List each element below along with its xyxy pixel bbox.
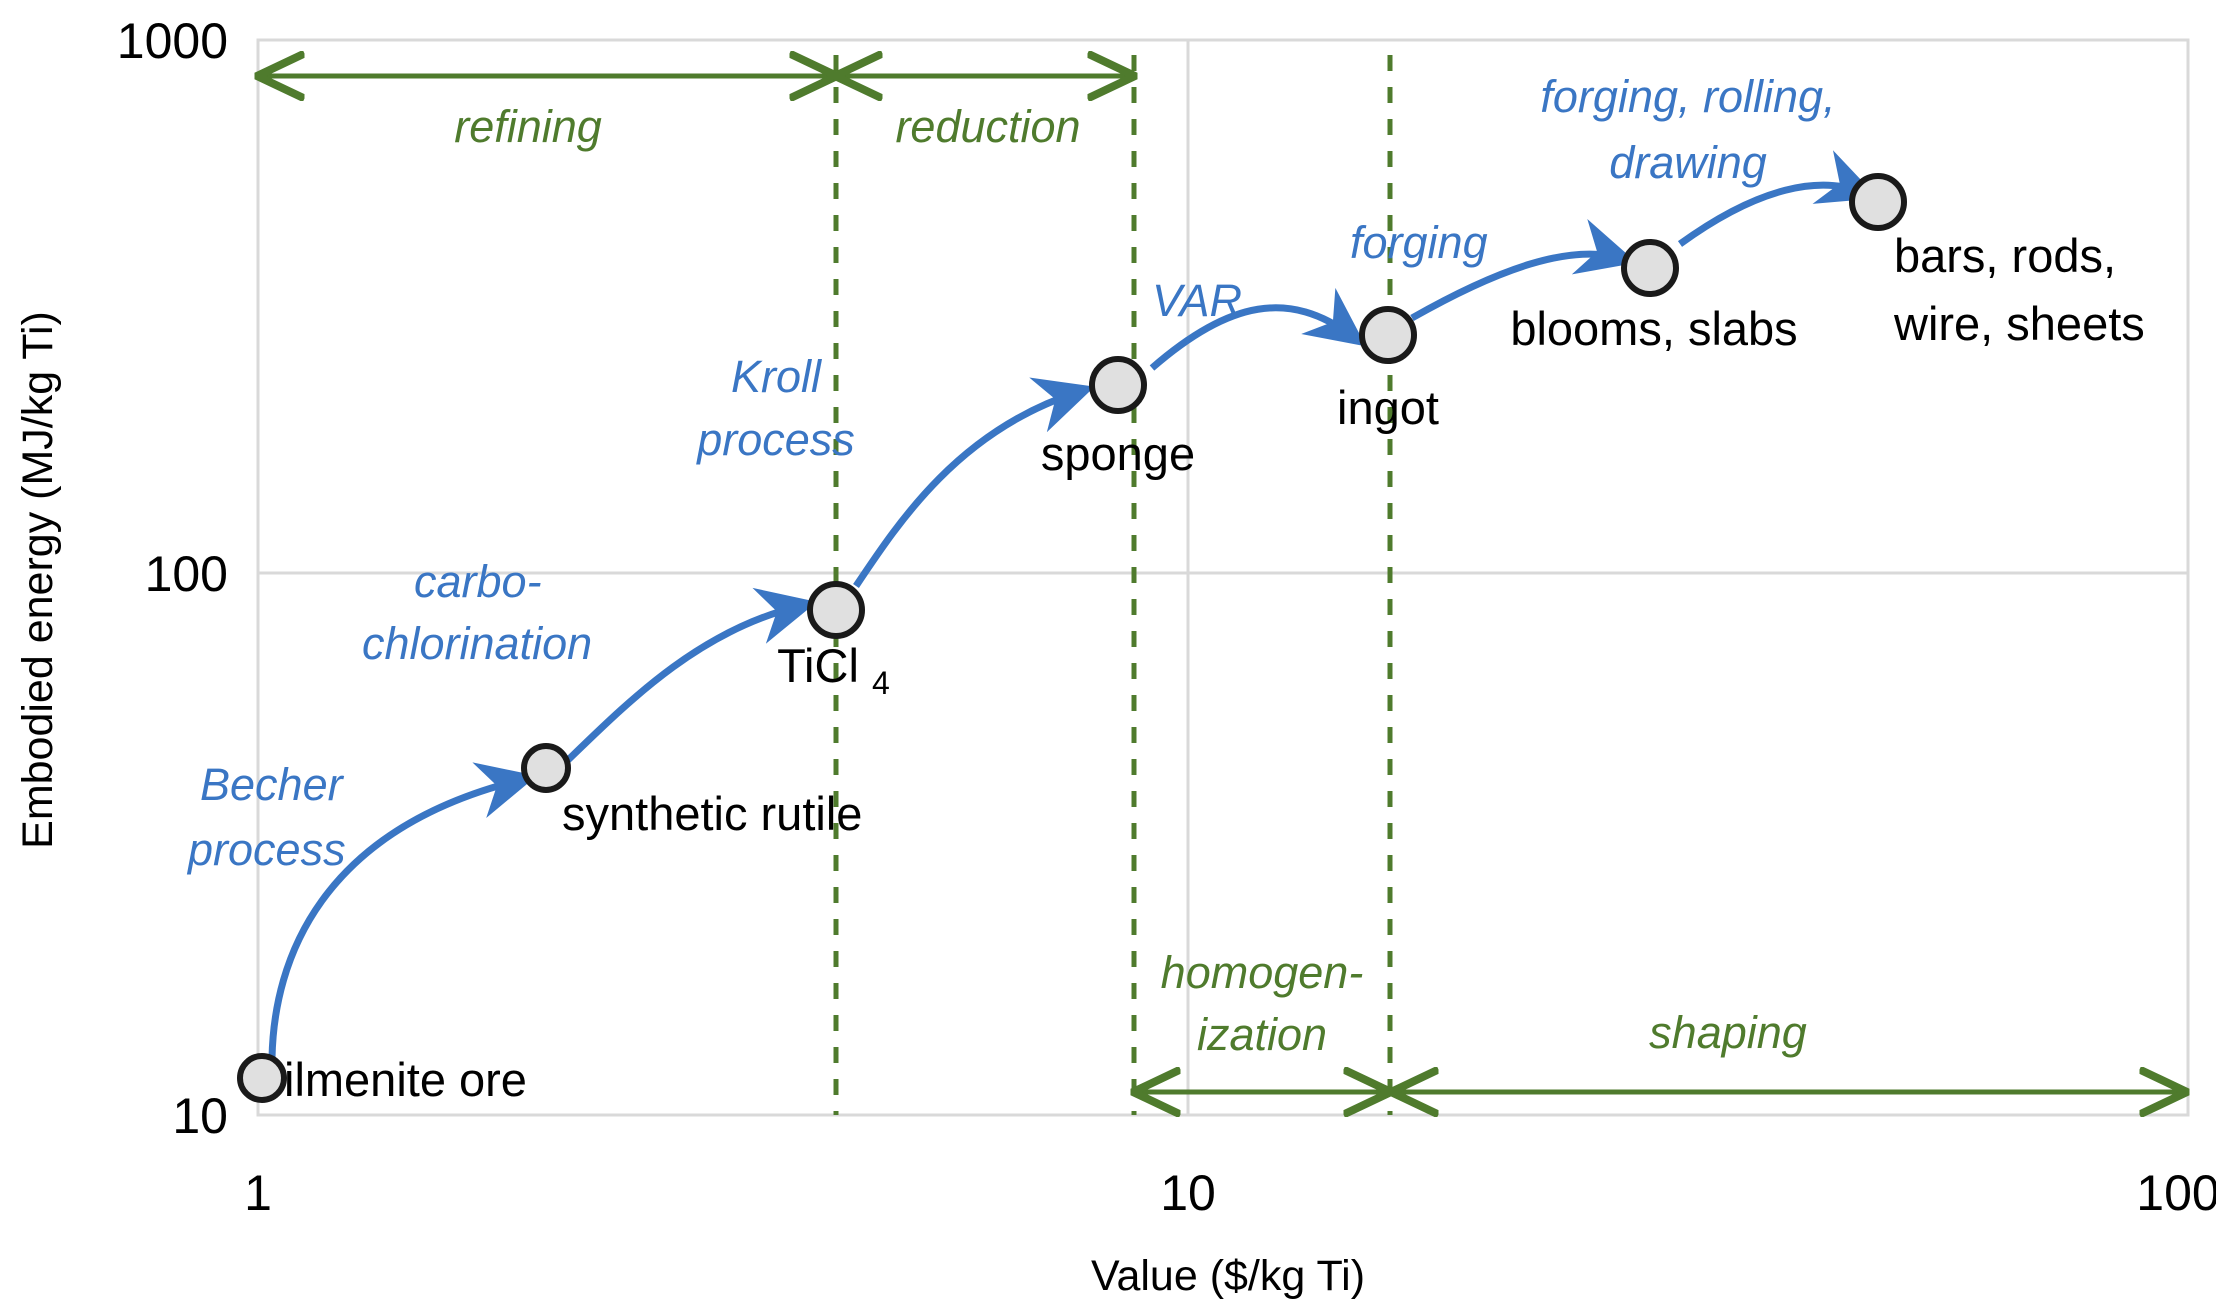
node-label-ticl4: TiCl 4: [777, 639, 890, 701]
node-label-ingot: ingot: [1337, 381, 1439, 434]
y-tick-100: 100: [145, 546, 228, 602]
data-point-synthetic-rutile[interactable]: [524, 746, 568, 790]
x-axis-title: Value ($/kg Ti): [1091, 1252, 1365, 1300]
stage-label-refining: refining: [454, 101, 602, 152]
process-label-kroll-line1: Kroll: [731, 351, 823, 402]
process-labels: Becher process carbo- chlorination Kroll…: [186, 71, 1836, 875]
x-tick-1: 1: [244, 1165, 272, 1221]
node-label-bars-line2: wire, sheets: [1893, 297, 2145, 350]
titanium-value-energy-chart: 1000 100 10 1 10 100 Embodied energy (MJ…: [0, 0, 2216, 1316]
node-label-ticl4-subscript: 4: [872, 665, 890, 701]
process-label-forging: forging: [1350, 217, 1488, 268]
process-label-carbo-line1: carbo-: [414, 556, 542, 607]
stage-label-homogenization-line1: homogen-: [1161, 947, 1364, 998]
node-label-synthetic-rutile: synthetic rutile: [562, 787, 862, 840]
y-tick-10: 10: [172, 1088, 228, 1144]
x-tick-10: 10: [1160, 1165, 1216, 1221]
data-point-blooms-slabs[interactable]: [1624, 242, 1676, 294]
process-label-frd-line2: drawing: [1609, 137, 1767, 188]
process-label-var: VAR: [1152, 275, 1242, 326]
flow-arrow-becher: [272, 780, 520, 1058]
y-axis-title: Embodied energy (MJ/kg Ti): [14, 311, 62, 849]
top-stage-spans: refining reduction: [262, 76, 1130, 152]
node-label-ilmenite-ore: ilmenite ore: [284, 1053, 527, 1106]
process-label-kroll-line2: process: [695, 414, 855, 465]
bottom-stage-spans: homogen- ization shaping: [1138, 947, 2182, 1092]
stage-label-reduction: reduction: [895, 101, 1080, 152]
flow-arrow-forging-rolling-drawing: [1680, 185, 1862, 244]
data-point-ingot[interactable]: [1362, 309, 1414, 361]
process-label-frd-line1: forging, rolling,: [1540, 71, 1835, 122]
flow-arrow-carbo-chlorination: [568, 606, 800, 760]
flow-arrow-kroll: [856, 392, 1078, 586]
data-point-ticl4[interactable]: [810, 584, 862, 636]
data-point-sponge[interactable]: [1092, 359, 1144, 411]
process-label-carbo-line2: chlorination: [362, 618, 592, 669]
stage-label-shaping: shaping: [1649, 1007, 1807, 1058]
node-label-sponge: sponge: [1041, 427, 1195, 480]
data-point-ilmenite-ore[interactable]: [240, 1056, 284, 1100]
process-label-becher-line1: Becher: [200, 759, 345, 810]
node-label-ticl4-main: TiCl: [777, 639, 859, 692]
node-label-blooms-slabs: blooms, slabs: [1510, 302, 1797, 355]
data-point-bars-rods-wire-sheets[interactable]: [1852, 176, 1904, 228]
x-tick-100: 100: [2136, 1165, 2216, 1221]
process-label-becher-line2: process: [186, 824, 346, 875]
chart-container: 1000 100 10 1 10 100 Embodied energy (MJ…: [0, 0, 2216, 1316]
y-tick-1000: 1000: [117, 13, 228, 69]
node-label-bars-line1: bars, rods,: [1894, 229, 2116, 282]
stage-label-homogenization-line2: ization: [1197, 1009, 1327, 1060]
